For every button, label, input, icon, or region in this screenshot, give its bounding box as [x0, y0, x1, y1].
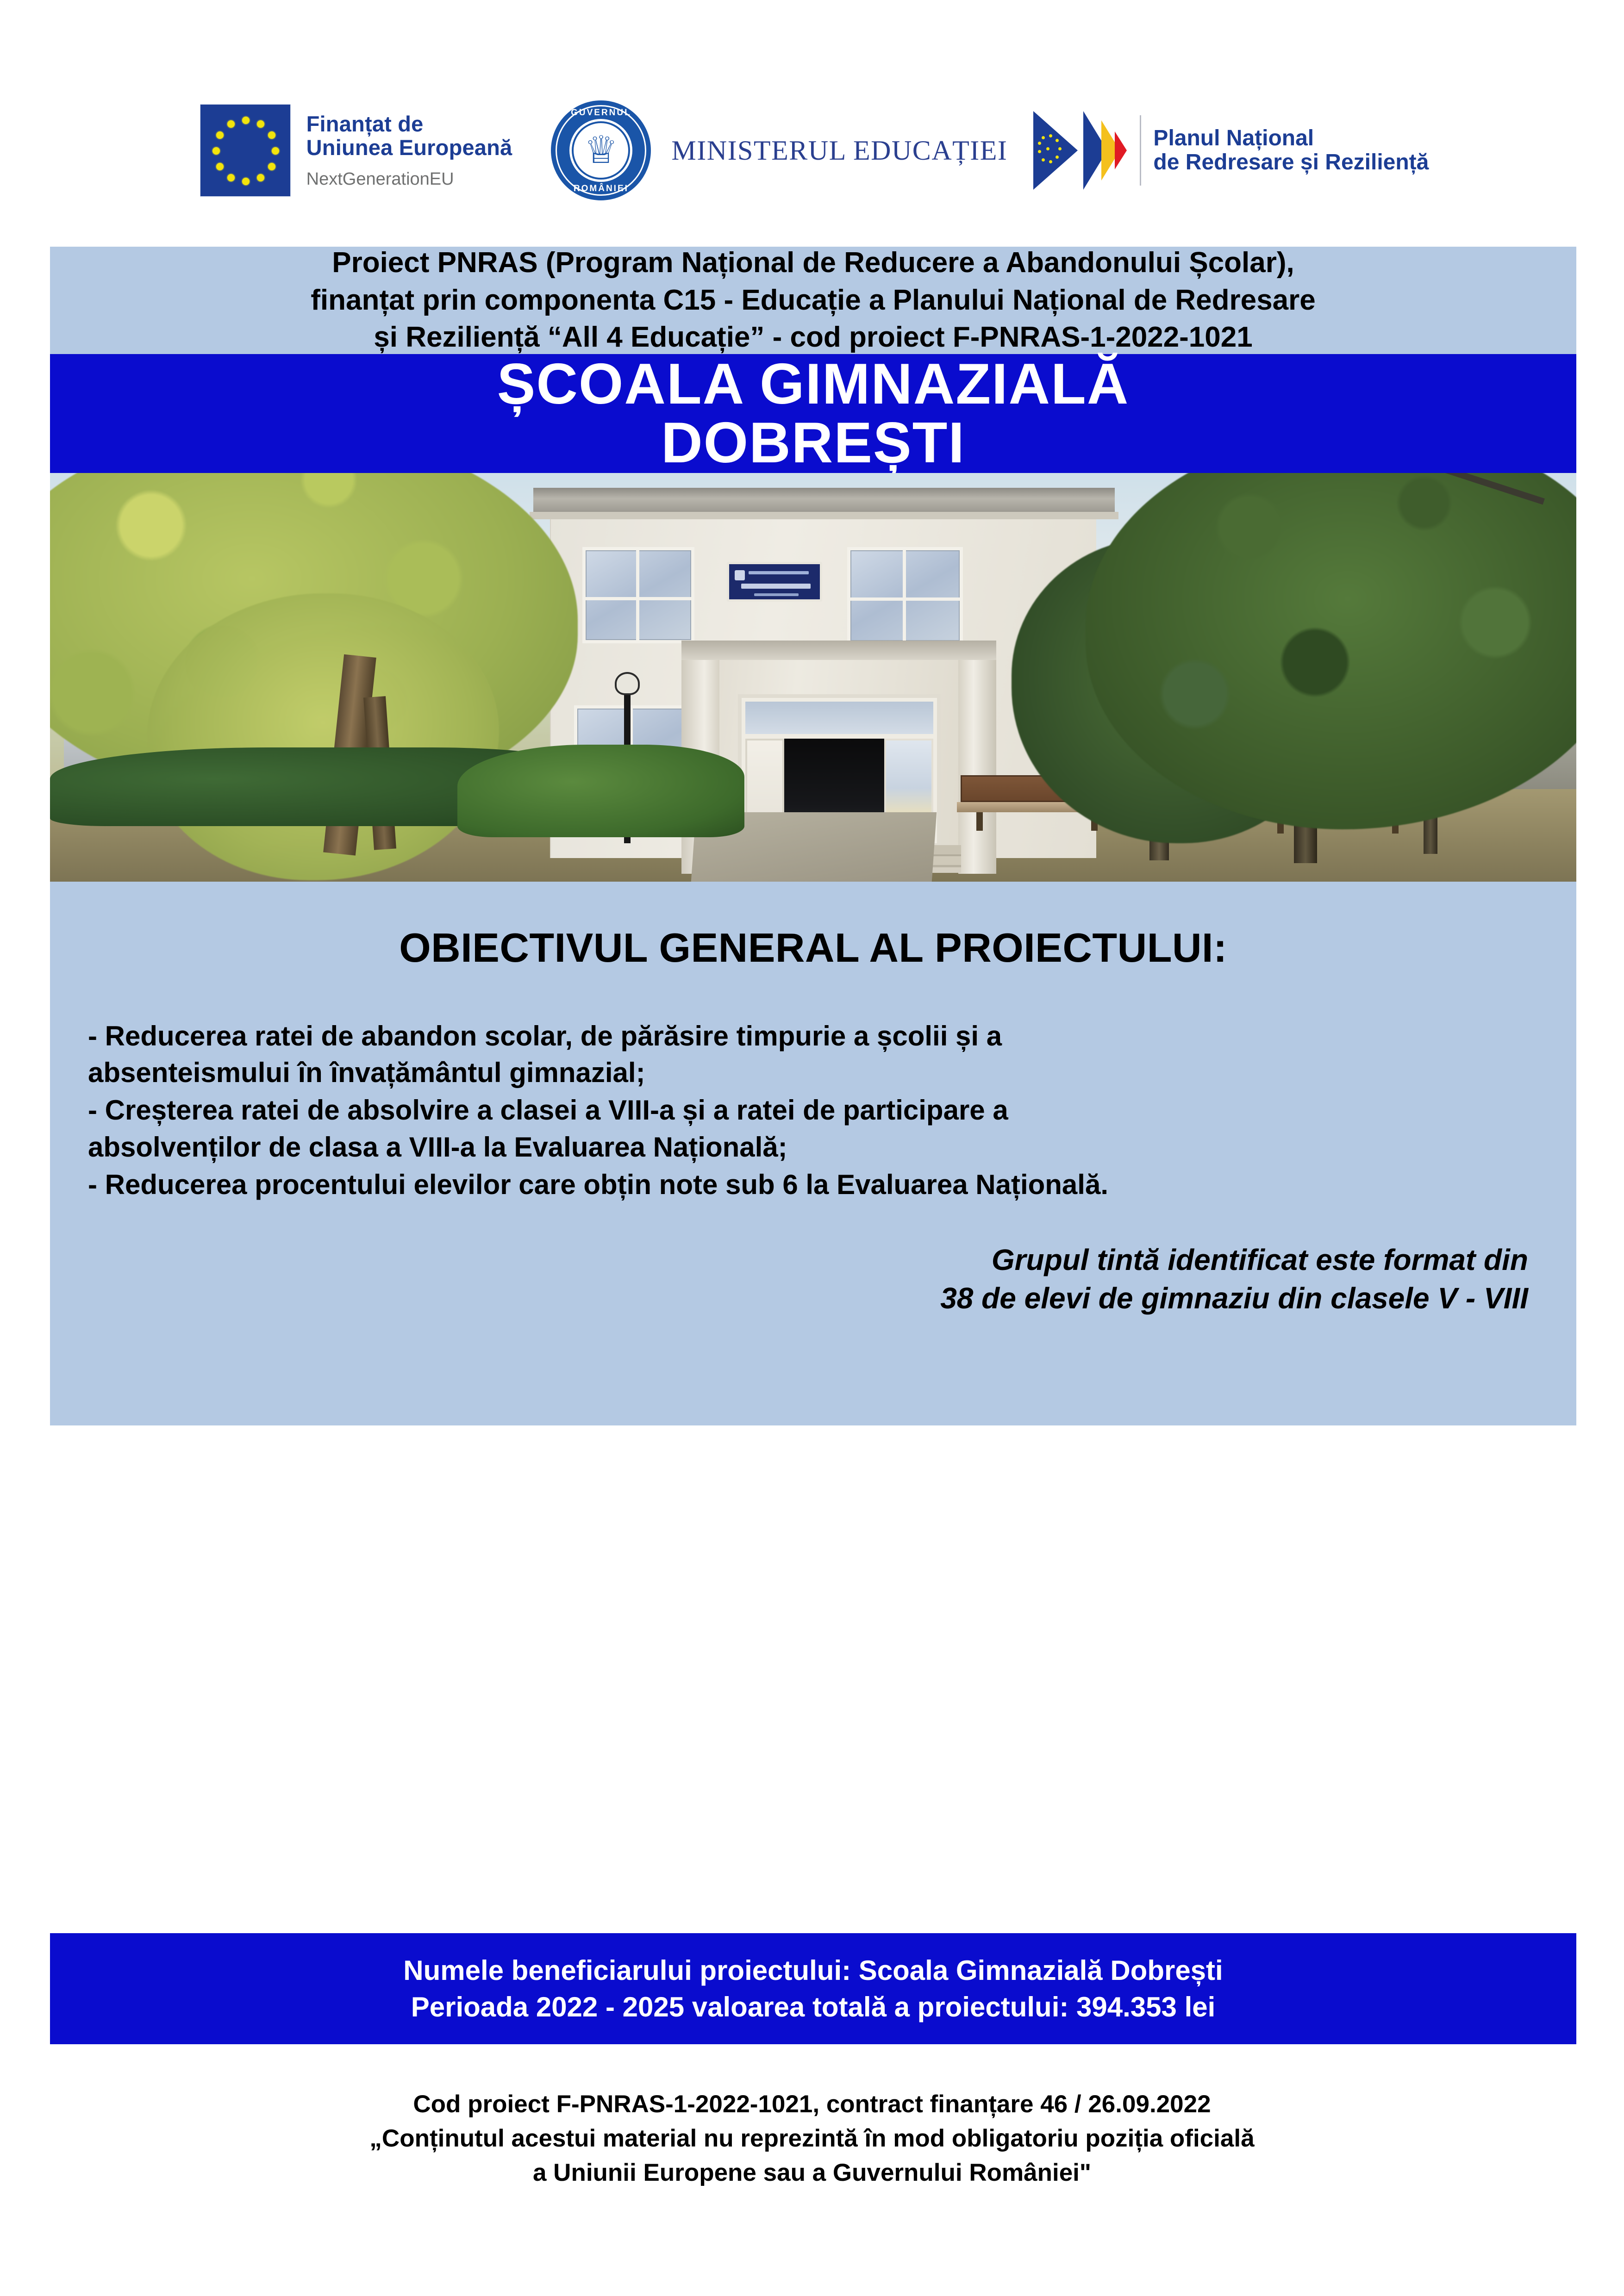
- next-generation-eu-label: NextGenerationEU: [306, 170, 512, 188]
- beneficiary-band: Numele beneficiarului proiectului: Scoal…: [50, 1933, 1576, 2044]
- photo-school-name-plaque: [727, 562, 822, 602]
- pnrr-logo: Planul Național de Redresare și Rezilien…: [1033, 111, 1429, 190]
- eu-funding-logo: Finanțat de Uniunea Europeană NextGenera…: [195, 104, 512, 197]
- project-description-band: Proiect PNRAS (Program Național de Reduc…: [50, 247, 1576, 354]
- project-description-line3: și Reziliență “All 4 Educație” - cod pro…: [311, 319, 1315, 356]
- list-item: - Reducerea ratei de abandon scolar, de …: [88, 1018, 1537, 1091]
- photo-building-eave: [530, 512, 1118, 519]
- beneficiary-name-line: Numele beneficiarului proiectului: Scoal…: [403, 1952, 1223, 1989]
- project-description-line2: finanțat prin componenta C15 - Educație …: [311, 282, 1315, 319]
- project-description-line1: Proiect PNRAS (Program Național de Reduc…: [311, 244, 1315, 282]
- pnrr-arrows-icon: [1033, 111, 1134, 190]
- eagle-crest-icon: ♕: [584, 131, 618, 169]
- legal-notice: Cod proiect F-PNRAS-1-2022-1021, contrac…: [0, 2087, 1624, 2190]
- pnrr-line1: Planul Național: [1153, 126, 1429, 150]
- pnrr-line2: de Redresare și Reziliență: [1153, 150, 1429, 174]
- photo-building-roof: [533, 488, 1115, 512]
- target-group-line1: Grupul tintă identificat este format din: [50, 1241, 1528, 1279]
- eu-funding-line1: Finanțat de: [306, 113, 512, 135]
- photo-window-upper-right: [847, 547, 963, 644]
- photo-portico-column-right: [958, 660, 996, 874]
- school-name-line2: DOBREȘTI: [497, 414, 1130, 472]
- list-item: - Reducerea procentului elevilor care ob…: [88, 1166, 1537, 1203]
- eu-funding-line2: Uniunea Europeană: [306, 137, 512, 158]
- funding-logo-bar: Finanțat de Uniunea Europeană NextGenera…: [0, 81, 1624, 220]
- pnrr-divider: [1140, 115, 1141, 186]
- legal-notice-line2: „Conținutul acestui material nu reprezin…: [0, 2122, 1624, 2156]
- list-item: - Creșterea ratei de absolvire a clasei …: [88, 1092, 1537, 1165]
- target-group-block: Grupul tintă identificat este format din…: [50, 1204, 1576, 1318]
- legal-notice-line1: Cod proiect F-PNRAS-1-2022-1021, contrac…: [0, 2087, 1624, 2122]
- target-group-line2: 38 de elevi de gimnaziu din clasele V - …: [50, 1279, 1528, 1318]
- school-building-photo: [50, 473, 1576, 882]
- objective-list: - Reducerea ratei de abandon scolar, de …: [50, 971, 1576, 1203]
- school-name-line1: ȘCOALA GIMNAZIALĂ: [497, 355, 1130, 413]
- photo-portico-canopy: [681, 641, 996, 660]
- eu-funding-text: Finanțat de Uniunea Europeană NextGenera…: [306, 113, 512, 188]
- pnrr-text: Planul Național de Redresare și Rezilien…: [1153, 126, 1429, 174]
- eu-flag-icon: [200, 104, 291, 197]
- photo-hedge-center: [457, 745, 744, 837]
- seal-arc-top-label: GUVERNUL: [551, 108, 651, 118]
- ministry-of-education-label: MINISTERUL EDUCAȚIEI: [671, 135, 1007, 167]
- seal-arc-bottom-label: ROMÂNIEI: [551, 184, 651, 194]
- objective-section: OBIECTIVUL GENERAL AL PROIECTULUI: - Red…: [50, 882, 1576, 1425]
- photo-window-upper-left: [582, 547, 694, 643]
- government-of-romania-seal-icon: GUVERNUL ROMÂNIEI ♕: [551, 100, 651, 200]
- objective-heading: OBIECTIVUL GENERAL AL PROIECTULUI:: [50, 882, 1576, 971]
- poster-page: Finanțat de Uniunea Europeană NextGenera…: [0, 0, 1624, 2296]
- legal-notice-line3: a Uniunii Europene sau a Guvernului Româ…: [0, 2156, 1624, 2190]
- beneficiary-period-value-line: Perioada 2022 - 2025 valoarea totală a p…: [403, 1989, 1223, 2025]
- school-name-title-band: ȘCOALA GIMNAZIALĂ DOBREȘTI: [50, 354, 1576, 473]
